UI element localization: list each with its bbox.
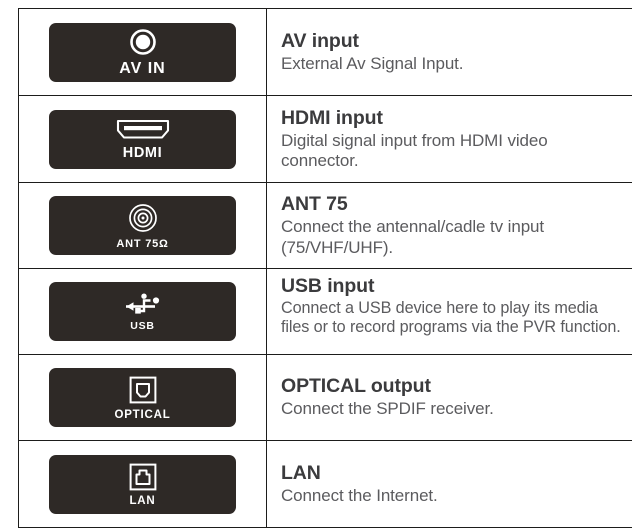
port-description: Connect the Internet. (281, 486, 601, 506)
table-row: LAN LAN Connect the Internet. (19, 441, 632, 527)
text-cell-optical: OPTICAL output Connect the SPDIF receive… (267, 355, 632, 440)
port-description: Connect the SPDIF receiver. (281, 399, 601, 419)
rj45-ethernet-icon (128, 462, 158, 492)
port-plate-label: USB (130, 320, 155, 332)
icon-cell-lan: LAN (19, 441, 267, 527)
rca-jack-icon (128, 27, 158, 57)
usb-trident-icon (123, 291, 163, 315)
port-description: Digital signal input from HDMI video con… (281, 131, 601, 171)
port-plate-lan: LAN (49, 455, 236, 514)
text-cell-av-in: AV input External Av Signal Input. (267, 9, 632, 95)
port-plate-hdmi: HDMI (49, 110, 236, 169)
port-plate-label: OPTICAL (114, 409, 170, 421)
text-cell-lan: LAN Connect the Internet. (267, 441, 632, 527)
icon-cell-av-in: AV IN (19, 9, 267, 95)
toslink-optical-icon (128, 375, 158, 405)
port-title: AV input (281, 31, 622, 52)
port-plate-usb: USB (49, 282, 236, 341)
port-description: Connect a USB device here to play its me… (281, 299, 621, 337)
text-cell-hdmi: HDMI input Digital signal input from HDM… (267, 96, 632, 182)
text-cell-usb: USB input Connect a USB device here to p… (267, 269, 632, 354)
port-description: External Av Signal Input. (281, 54, 601, 74)
port-plate-ant75: ANT 75Ω (49, 196, 236, 255)
port-connector-table: AV IN AV input External Av Signal Input.… (18, 8, 632, 528)
port-title: ANT 75 (281, 194, 622, 215)
hdmi-connector-icon (115, 117, 171, 141)
coaxial-antenna-icon (127, 202, 159, 234)
icon-cell-usb: USB (19, 269, 267, 354)
table-row: AV IN AV input External Av Signal Input. (19, 9, 632, 96)
icon-cell-hdmi: HDMI (19, 96, 267, 182)
icon-cell-ant75: ANT 75Ω (19, 183, 267, 268)
table-row: HDMI HDMI input Digital signal input fro… (19, 96, 632, 183)
text-cell-ant75: ANT 75 Connect the antennal/cadle tv inp… (267, 183, 632, 268)
port-title: LAN (281, 463, 622, 484)
port-plate-label: HDMI (123, 145, 162, 161)
icon-cell-optical: OPTICAL (19, 355, 267, 440)
port-title: USB input (281, 276, 622, 297)
port-plate-optical: OPTICAL (49, 368, 236, 427)
port-plate-label: ANT 75Ω (116, 238, 168, 250)
port-description: Connect the antennal/cadle tv input (75/… (281, 217, 601, 257)
port-plate-label: AV IN (119, 60, 165, 78)
port-title: OPTICAL output (281, 376, 622, 397)
table-row: USB USB input Connect a USB device here … (19, 269, 632, 355)
table-row: ANT 75Ω ANT 75 Connect the antennal/cadl… (19, 183, 632, 269)
table-row: OPTICAL OPTICAL output Connect the SPDIF… (19, 355, 632, 441)
port-title: HDMI input (281, 108, 622, 129)
port-plate-av-in: AV IN (49, 23, 236, 82)
port-plate-label: LAN (129, 495, 155, 507)
